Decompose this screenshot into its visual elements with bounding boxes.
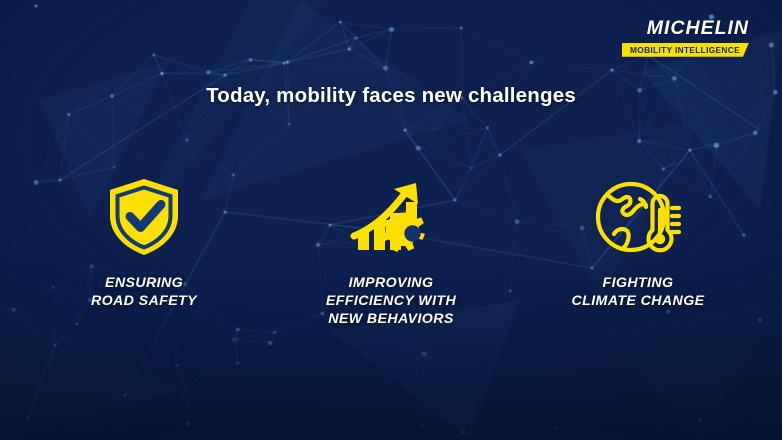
caption-line-2: CLIMATE CHANGE	[571, 292, 704, 310]
globe-thermometer-icon	[595, 176, 681, 258]
caption-line-2: EFFICIENCY WITH	[326, 292, 456, 310]
caption-line-2: ROAD SAFETY	[91, 292, 197, 310]
pillar-fighting-climate-change: FIGHTING CLIMATE CHANGE	[515, 176, 762, 310]
caption-line-3: NEW BEHAVIORS	[326, 310, 456, 328]
caption-line-1: FIGHTING	[571, 274, 704, 292]
pillars-row: ENSURING ROAD SAFETY	[0, 176, 782, 329]
page-title: Today, mobility faces new challenges	[0, 84, 782, 108]
slide-canvas: MICHELIN MOBILITY INTELLIGENCE Today, mo…	[0, 0, 782, 440]
growth-chart-gear-icon	[349, 176, 433, 258]
mobility-intelligence-banner: MOBILITY INTELLIGENCE	[622, 43, 749, 57]
pillar-ensuring-road-safety: ENSURING ROAD SAFETY	[21, 176, 268, 310]
pillar-caption: FIGHTING CLIMATE CHANGE	[571, 274, 704, 310]
pillar-caption: ENSURING ROAD SAFETY	[91, 274, 197, 310]
caption-line-1: ENSURING	[91, 274, 197, 292]
shield-check-icon	[105, 176, 183, 258]
pillar-caption: IMPROVING EFFICIENCY WITH NEW BEHAVIORS	[326, 274, 456, 329]
pillar-improving-efficiency: IMPROVING EFFICIENCY WITH NEW BEHAVIORS	[268, 176, 515, 329]
michelin-logo: MICHELIN MOBILITY INTELLIGENCE	[622, 19, 749, 58]
caption-line-1: IMPROVING	[326, 274, 456, 292]
michelin-wordmark: MICHELIN	[622, 19, 749, 39]
